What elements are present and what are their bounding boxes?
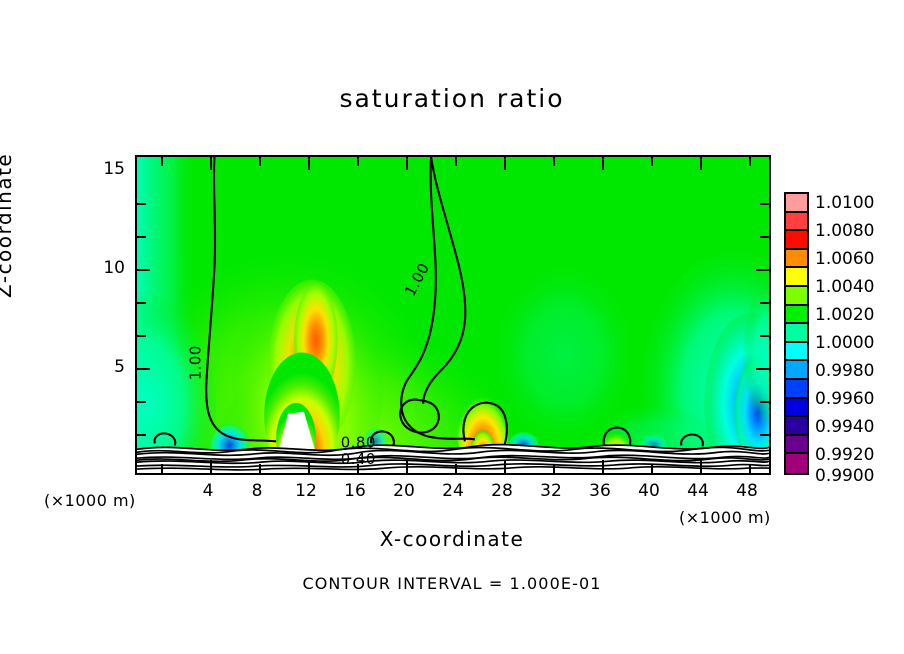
colorbar-label: 1.0040 xyxy=(815,277,874,297)
x-tick-label: 12 xyxy=(286,481,326,501)
tick-bottom xyxy=(161,464,163,473)
tick-left xyxy=(137,368,150,370)
tick-left xyxy=(137,236,146,238)
y-axis-title: Z-coordinate xyxy=(0,153,16,298)
tick-top xyxy=(651,157,653,166)
tick-bottom xyxy=(651,464,653,473)
colorbar-band xyxy=(786,250,807,269)
contour-field: 1.00 1.00 0.80 0.40 xyxy=(137,157,769,473)
tick-top xyxy=(259,157,261,166)
colorbar-band xyxy=(786,268,807,287)
tick-bottom xyxy=(210,460,212,473)
x-tick-label: 16 xyxy=(335,481,375,501)
page-title: saturation ratio xyxy=(0,84,904,113)
tick-bottom xyxy=(259,464,261,473)
tick-left xyxy=(137,302,146,304)
x-tick-label: 32 xyxy=(531,481,571,501)
x-tick-label: 8 xyxy=(237,481,277,501)
tick-top xyxy=(308,157,310,170)
x-axis-units: (×1000 m) xyxy=(679,508,771,527)
x-tick-label: 40 xyxy=(629,481,669,501)
colorbar-label: 0.9900 xyxy=(815,466,874,486)
colorbar xyxy=(784,192,809,475)
colorbar-label: 0.9960 xyxy=(815,389,874,409)
tick-right xyxy=(756,269,769,271)
colorbar-label: 1.0100 xyxy=(815,193,874,213)
colorbar-band xyxy=(786,454,807,473)
tick-bottom xyxy=(553,464,555,473)
x-axis-title: X-coordinate xyxy=(0,527,904,551)
tick-bottom xyxy=(455,464,457,473)
tick-right xyxy=(760,236,769,238)
tick-top xyxy=(504,157,506,170)
tick-top xyxy=(700,157,702,170)
colorbar-label: 0.9920 xyxy=(815,445,874,465)
colorbar-label: 1.0080 xyxy=(815,221,874,241)
tick-bottom xyxy=(602,460,604,473)
tick-top xyxy=(161,157,163,166)
tick-bottom xyxy=(308,460,310,473)
tick-right xyxy=(756,368,769,370)
tick-left xyxy=(137,203,146,205)
colorbar-label: 0.9940 xyxy=(815,417,874,437)
tick-bottom xyxy=(504,460,506,473)
colorbar-band xyxy=(786,380,807,399)
tick-left xyxy=(137,401,146,403)
x-tick-label: 36 xyxy=(580,481,620,501)
colorbar-band xyxy=(786,417,807,436)
contour-label-3: 0.80 xyxy=(341,433,376,451)
tick-top xyxy=(455,157,457,166)
tick-top xyxy=(602,157,604,170)
tick-top xyxy=(406,157,408,170)
y-tick-label: 10 xyxy=(95,258,125,278)
y-tick-label: 15 xyxy=(95,159,125,179)
contour-interval-caption: CONTOUR INTERVAL = 1.000E-01 xyxy=(0,574,904,593)
colorbar-band xyxy=(786,324,807,343)
y-axis-units: (×1000 m) xyxy=(44,491,136,510)
colorbar-band xyxy=(786,436,807,455)
tick-left xyxy=(137,269,150,271)
tick-right xyxy=(760,302,769,304)
tick-right xyxy=(760,434,769,436)
colorbar-band xyxy=(786,306,807,325)
tick-left xyxy=(137,335,146,337)
tick-bottom xyxy=(406,460,408,473)
tick-left xyxy=(137,434,146,436)
colorbar-band xyxy=(786,194,807,213)
contour-plot-panel: 1.00 1.00 0.80 0.40 xyxy=(135,155,771,475)
y-tick-label: 5 xyxy=(95,357,125,377)
x-tick-label: 24 xyxy=(433,481,473,501)
figure-canvas: saturation ratio xyxy=(0,0,904,654)
x-tick-label: 48 xyxy=(727,481,767,501)
colorbar-label: 1.0060 xyxy=(815,249,874,269)
x-tick-label: 28 xyxy=(482,481,522,501)
colorbar-label: 1.0000 xyxy=(815,333,874,353)
contour-label-1: 1.00 xyxy=(187,345,205,380)
colorbar-band xyxy=(786,287,807,306)
x-tick-label: 44 xyxy=(678,481,718,501)
tick-right xyxy=(760,203,769,205)
colorbar-label: 1.0020 xyxy=(815,305,874,325)
x-tick-label: 4 xyxy=(188,481,228,501)
tick-bottom xyxy=(700,460,702,473)
colorbar-band xyxy=(786,343,807,362)
tick-top xyxy=(749,157,751,166)
colorbar-band xyxy=(786,361,807,380)
tick-bottom xyxy=(749,464,751,473)
tick-right xyxy=(760,401,769,403)
colorbar-band xyxy=(786,231,807,250)
colorbar-band xyxy=(786,213,807,232)
colorbar-label: 0.9980 xyxy=(815,361,874,381)
tick-top xyxy=(357,157,359,166)
colorbar-band xyxy=(786,399,807,418)
x-tick-label: 20 xyxy=(384,481,424,501)
tick-top xyxy=(553,157,555,166)
tick-right xyxy=(760,335,769,337)
tick-bottom xyxy=(357,464,359,473)
tick-top xyxy=(210,157,212,170)
